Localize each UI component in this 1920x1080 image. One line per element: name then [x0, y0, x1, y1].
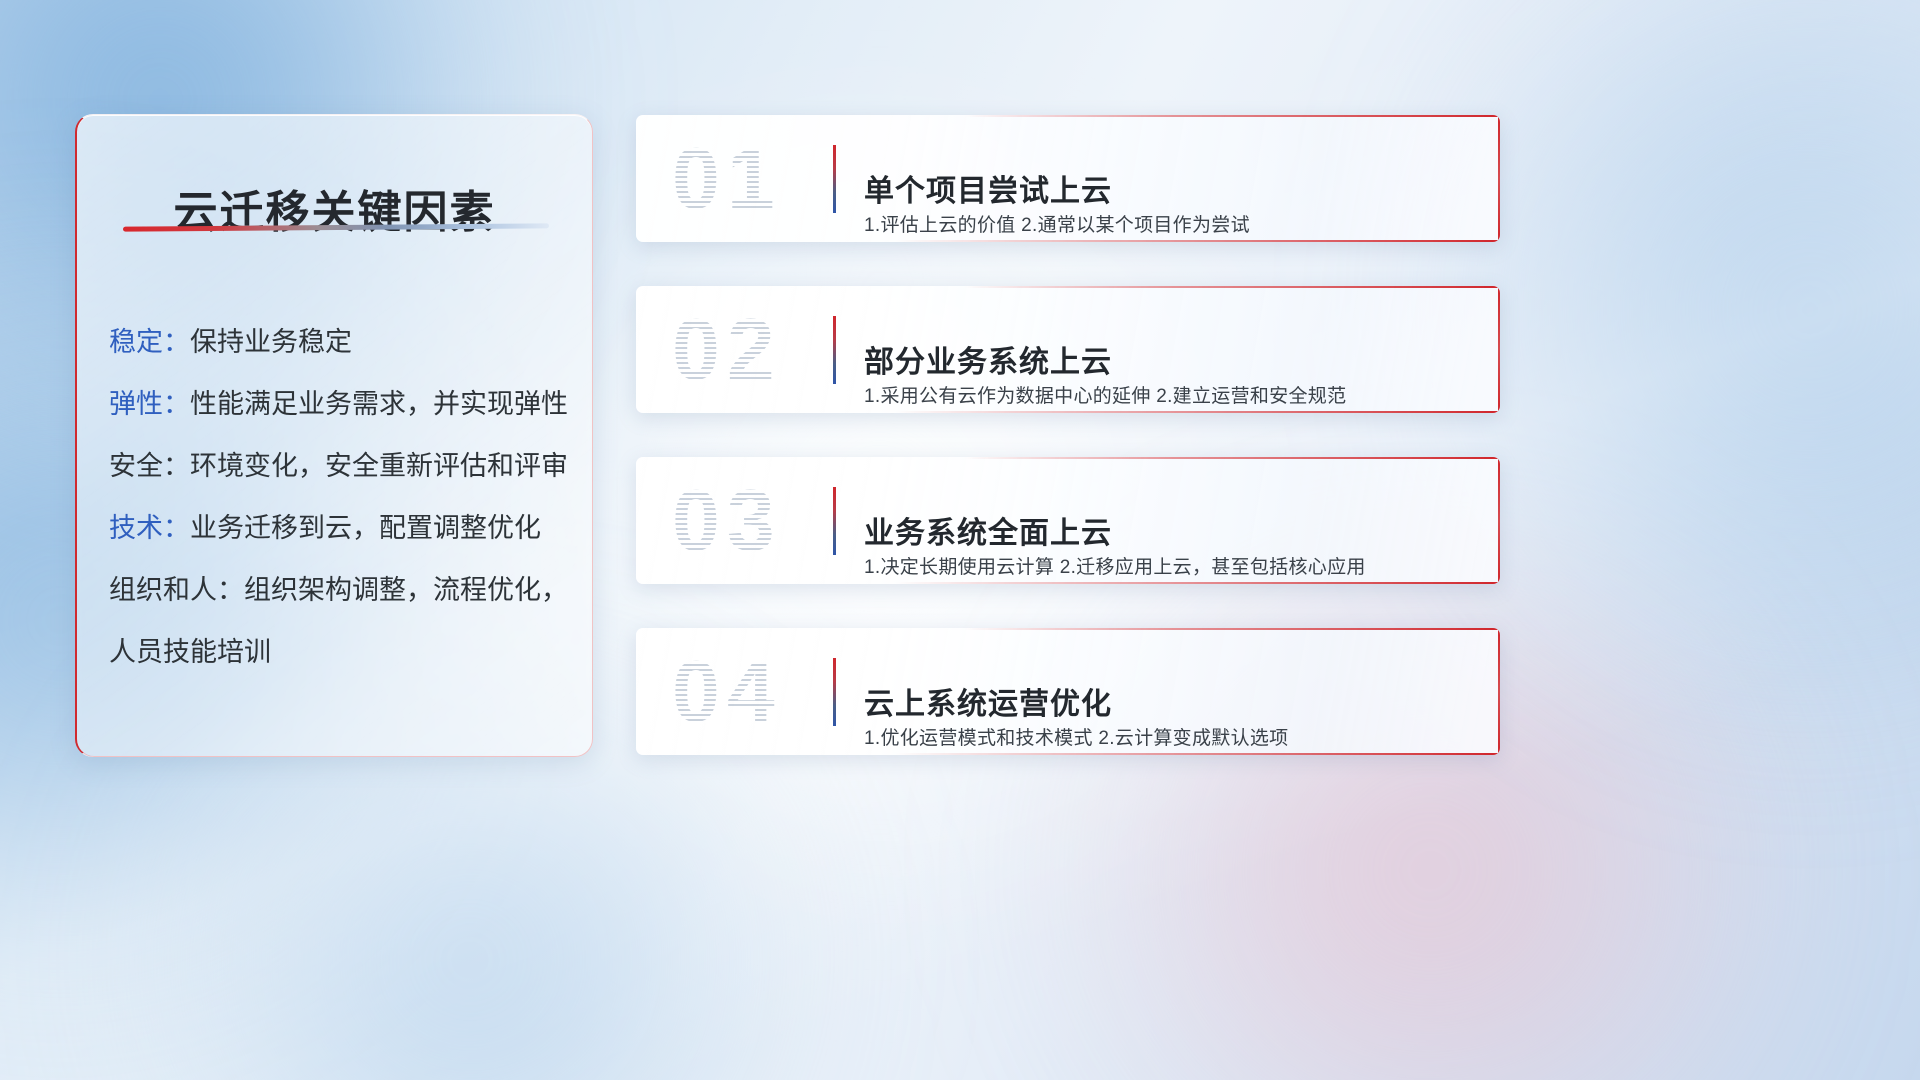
- list-item-label: 安全：: [109, 451, 190, 481]
- step-number: 03: [672, 478, 782, 564]
- list-item: 组织和人：组织架构调整，流程优化，: [109, 559, 568, 621]
- step-divider-bar: [833, 487, 836, 555]
- list-item: 技术：业务迁移到云，配置调整优化: [109, 497, 568, 559]
- card-bottom-accent: [636, 240, 1500, 242]
- list-item-label: 稳定：: [109, 327, 190, 357]
- slide-root: 云迁移关键因素 稳定：保持业务稳定 弹性：性能满足业务需求，并实现弹性 安全：环…: [0, 0, 1920, 1080]
- step-title: 部分业务系统上云: [864, 337, 1112, 381]
- card-top-accent: [636, 286, 1500, 288]
- step-title: 单个项目尝试上云: [864, 166, 1112, 210]
- step-number: 01: [672, 136, 782, 222]
- step-card[interactable]: 03 业务系统全面上云 1.决定长期使用云计算 2.迁移应用上云，甚至包括核心应…: [636, 457, 1500, 584]
- card-bottom-accent: [636, 753, 1500, 755]
- card-bottom-accent: [636, 411, 1500, 413]
- list-item-continuation: 人员技能培训: [109, 621, 568, 683]
- card-top-accent: [636, 457, 1500, 459]
- list-item-label: 弹性：: [109, 389, 190, 419]
- step-number: 04: [672, 649, 782, 735]
- list-item-label: 技术：: [109, 513, 190, 543]
- step-title: 云上系统运营优化: [864, 679, 1112, 723]
- list-item-text: 业务迁移到云，配置调整优化: [190, 513, 541, 543]
- card-bottom-accent: [636, 582, 1500, 584]
- step-title: 业务系统全面上云: [864, 508, 1112, 552]
- list-item-text: 性能满足业务需求，并实现弹性: [190, 389, 568, 419]
- list-item-text: 环境变化，安全重新评估和评审: [190, 451, 568, 481]
- key-factors-panel: 云迁移关键因素 稳定：保持业务稳定 弹性：性能满足业务需求，并实现弹性 安全：环…: [75, 114, 593, 757]
- list-item: 稳定：保持业务稳定: [109, 311, 568, 373]
- list-item: 弹性：性能满足业务需求，并实现弹性: [109, 373, 568, 435]
- step-card[interactable]: 04 云上系统运营优化 1.优化运营模式和技术模式 2.云计算变成默认选项: [636, 628, 1500, 755]
- card-right-accent: [1498, 286, 1500, 413]
- step-subtitle: 1.优化运营模式和技术模式 2.云计算变成默认选项: [864, 723, 1288, 750]
- card-right-accent: [1498, 115, 1500, 242]
- list-item-text: 组织架构调整，流程优化，: [244, 575, 568, 605]
- card-top-accent: [636, 628, 1500, 630]
- step-divider-bar: [833, 658, 836, 726]
- step-card[interactable]: 01 单个项目尝试上云 1.评估上云的价值 2.通常以某个项目作为尝试: [636, 115, 1500, 242]
- card-top-accent: [636, 115, 1500, 117]
- list-item-label: 组织和人：: [109, 575, 244, 605]
- list-item-text: 人员技能培训: [109, 637, 271, 667]
- step-subtitle: 1.决定长期使用云计算 2.迁移应用上云，甚至包括核心应用: [864, 552, 1366, 579]
- step-divider-bar: [833, 145, 836, 213]
- list-item: 安全：环境变化，安全重新评估和评审: [109, 435, 568, 497]
- step-subtitle: 1.评估上云的价值 2.通常以某个项目作为尝试: [864, 210, 1250, 237]
- step-number: 02: [672, 307, 782, 393]
- step-divider-bar: [833, 316, 836, 384]
- list-item-text: 保持业务稳定: [190, 327, 352, 357]
- step-card[interactable]: 02 部分业务系统上云 1.采用公有云作为数据中心的延伸 2.建立运营和安全规范: [636, 286, 1500, 413]
- card-right-accent: [1498, 457, 1500, 584]
- key-factors-list: 稳定：保持业务稳定 弹性：性能满足业务需求，并实现弹性 安全：环境变化，安全重新…: [109, 311, 568, 683]
- step-subtitle: 1.采用公有云作为数据中心的延伸 2.建立运营和安全规范: [864, 381, 1346, 408]
- card-right-accent: [1498, 628, 1500, 755]
